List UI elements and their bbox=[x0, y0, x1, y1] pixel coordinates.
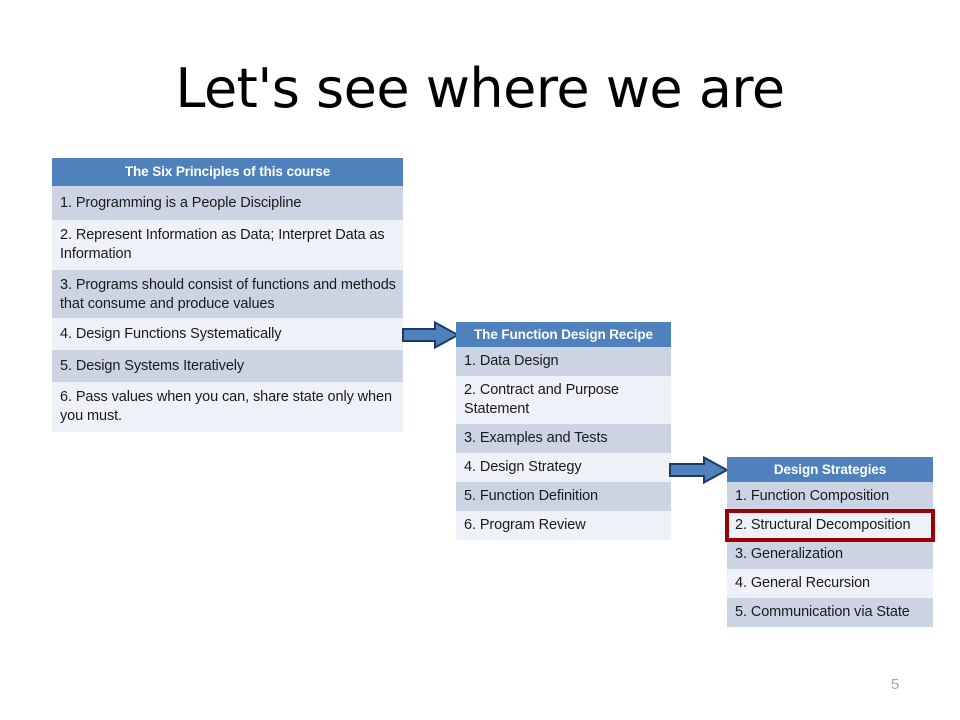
table-row[interactable]: 3. Programs should consist of functions … bbox=[52, 270, 403, 318]
arrow-right-icon-recipe-to-strategies bbox=[669, 456, 729, 484]
table-row[interactable]: 4. General Recursion bbox=[727, 569, 933, 598]
table-row[interactable]: 5. Function Definition bbox=[456, 482, 671, 511]
table-row[interactable]: 5. Design Systems Iteratively bbox=[52, 350, 403, 382]
table-row[interactable]: 4. Design Functions Systematically bbox=[52, 318, 403, 350]
table-row[interactable]: 6. Pass values when you can, share state… bbox=[52, 382, 403, 432]
row-label: 6. Program Review bbox=[464, 516, 586, 535]
table-row[interactable]: 4. Design Strategy bbox=[456, 453, 671, 482]
table-row[interactable]: 2. Represent Information as Data; Interp… bbox=[52, 220, 403, 270]
table-row[interactable]: 6. Program Review bbox=[456, 511, 671, 540]
row-label: 4. Design Functions Systematically bbox=[60, 325, 281, 344]
table-row[interactable]: 1. Programming is a People Discipline bbox=[52, 186, 403, 220]
table-row[interactable]: 1. Data Design bbox=[456, 347, 671, 376]
row-label: 3. Examples and Tests bbox=[464, 429, 608, 448]
slide-canvas: Let's see where we are The Six Principle… bbox=[0, 0, 960, 720]
table-function-design-recipe: The Function Design Recipe 1. Data Desig… bbox=[456, 322, 671, 540]
row-label: 6. Pass values when you can, share state… bbox=[60, 388, 397, 426]
page-number: 5 bbox=[880, 676, 910, 693]
row-label: 2. Contract and Purpose Statement bbox=[464, 381, 665, 419]
table-six-principles: The Six Principles of this course 1. Pro… bbox=[52, 158, 403, 432]
table-row[interactable]: 3. Examples and Tests bbox=[456, 424, 671, 453]
row-label: 5. Design Systems Iteratively bbox=[60, 357, 244, 376]
table-header-six-principles: The Six Principles of this course bbox=[52, 158, 403, 186]
table-row[interactable]: 2. Contract and Purpose Statement bbox=[456, 376, 671, 424]
table-row[interactable]: 5. Communication via State bbox=[727, 598, 933, 627]
row-label: 4. Design Strategy bbox=[464, 458, 582, 477]
row-label: 2. Structural Decomposition bbox=[735, 516, 910, 535]
table-header-design-strategies: Design Strategies bbox=[727, 457, 933, 482]
row-label: 1. Function Composition bbox=[735, 487, 889, 506]
row-label: 2. Represent Information as Data; Interp… bbox=[60, 226, 397, 264]
table-design-strategies: Design Strategies 1. Function Compositio… bbox=[727, 457, 933, 627]
row-label: 5. Communication via State bbox=[735, 603, 910, 622]
table-header-function-design-recipe: The Function Design Recipe bbox=[456, 322, 671, 347]
row-label: 3. Programs should consist of functions … bbox=[60, 276, 397, 314]
table-row[interactable]: 3. Generalization bbox=[727, 540, 933, 569]
row-label: 1. Programming is a People Discipline bbox=[60, 194, 301, 213]
row-label: 4. General Recursion bbox=[735, 574, 870, 593]
page-title: Let's see where we are bbox=[0, 58, 960, 120]
row-label: 1. Data Design bbox=[464, 352, 559, 371]
table-row[interactable]: 1. Function Composition bbox=[727, 482, 933, 511]
row-label: 5. Function Definition bbox=[464, 487, 598, 506]
table-row-highlighted[interactable]: 2. Structural Decomposition bbox=[727, 511, 933, 540]
row-label: 3. Generalization bbox=[735, 545, 843, 564]
arrow-right-icon-principles-to-recipe bbox=[402, 321, 460, 349]
